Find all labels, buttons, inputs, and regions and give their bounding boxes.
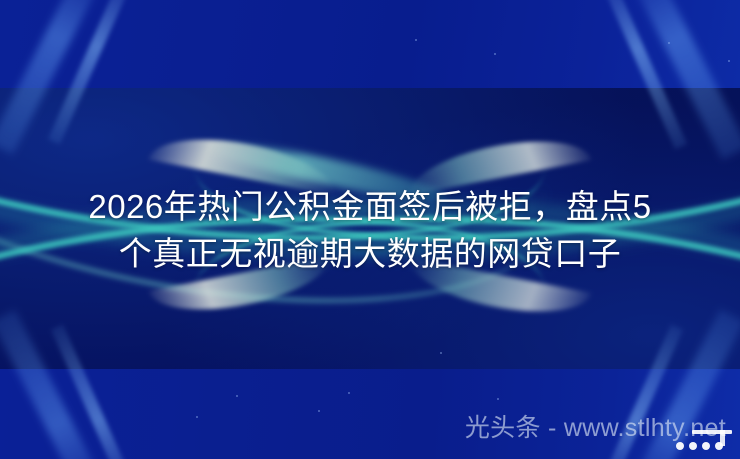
watermark-text: 光头条 - www.stlhty.net — [465, 416, 726, 441]
site-watermark: 光头条 - www.stlhty.net — [465, 416, 726, 441]
background-band-top — [0, 0, 740, 88]
background-band-middle — [0, 88, 740, 369]
promo-banner: 2026年热门公积金面签后被拒，盘点5 个真正无视逾期大数据的网贷口子 光头条 … — [0, 0, 740, 459]
